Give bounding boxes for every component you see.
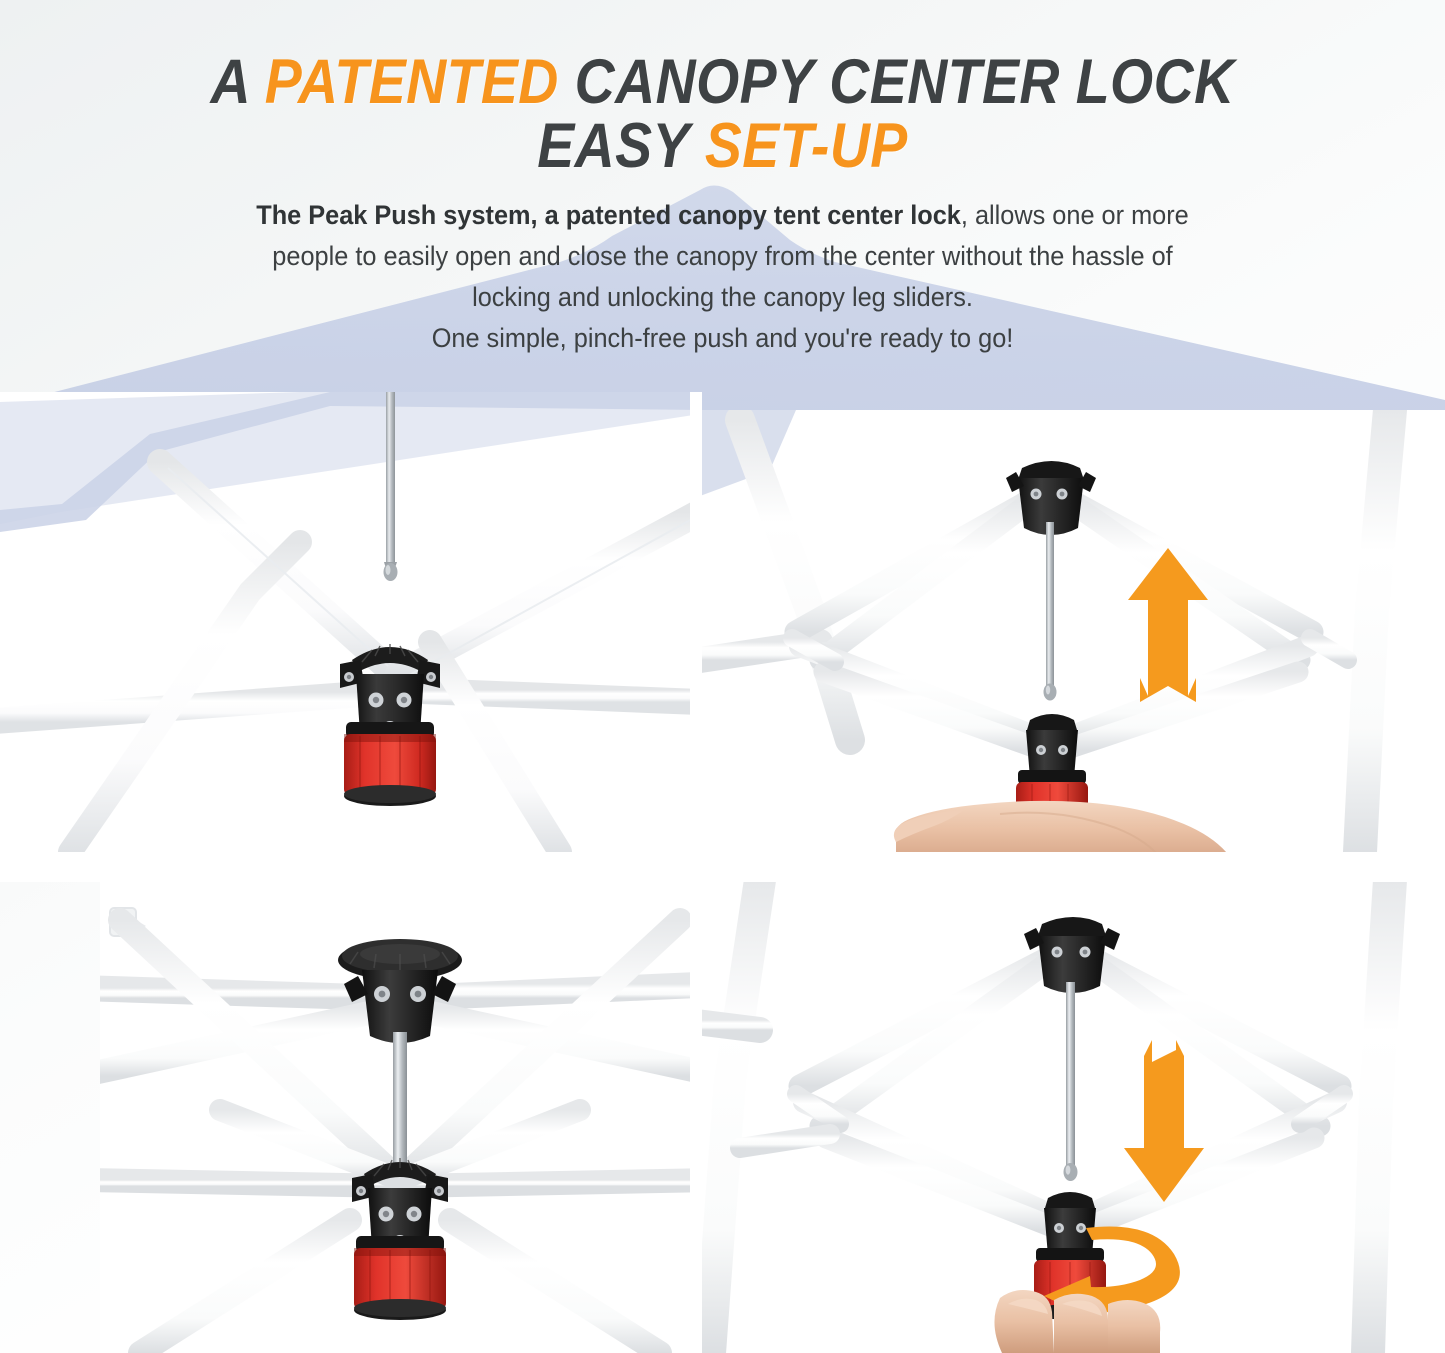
photo-push-up-with-hand bbox=[700, 410, 1445, 852]
headline-part-a: A bbox=[210, 47, 264, 117]
headline-highlight-patented: PATENTED bbox=[265, 47, 559, 117]
divider-horizontal bbox=[0, 852, 1445, 882]
photo-twist-and-pull-down bbox=[700, 880, 1445, 1353]
header: A PATENTED CANOPY CENTER LOCK EASY SET-U… bbox=[0, 0, 1445, 359]
description-line2: people to easily open and close the cano… bbox=[33, 236, 1413, 277]
page-title: A PATENTED CANOPY CENTER LOCK EASY SET-U… bbox=[87, 0, 1359, 179]
description-bold-lead: The Peak Push system, a patented canopy … bbox=[256, 200, 961, 230]
photo-center-lock-open bbox=[0, 392, 700, 852]
panel-top-left bbox=[0, 392, 700, 852]
panel-top-right bbox=[700, 410, 1445, 852]
description-line3: locking and unlocking the canopy leg sli… bbox=[33, 277, 1413, 318]
infographic-page: A PATENTED CANOPY CENTER LOCK EASY SET-U… bbox=[0, 0, 1445, 1353]
photo-center-lock-locked bbox=[100, 880, 700, 1353]
headline-part-easy: EASY bbox=[537, 111, 705, 181]
description-line4: One simple, pinch-free push and you're r… bbox=[33, 318, 1413, 359]
panel-bottom-left bbox=[100, 880, 700, 1353]
description-line1-rest: , allows one or more bbox=[961, 200, 1189, 230]
headline-part-c: CANOPY CENTER LOCK bbox=[559, 47, 1235, 117]
panel-bottom-right bbox=[700, 880, 1445, 1353]
headline-highlight-setup: SET-UP bbox=[705, 111, 908, 181]
description-text: The Peak Push system, a patented canopy … bbox=[33, 179, 1413, 359]
